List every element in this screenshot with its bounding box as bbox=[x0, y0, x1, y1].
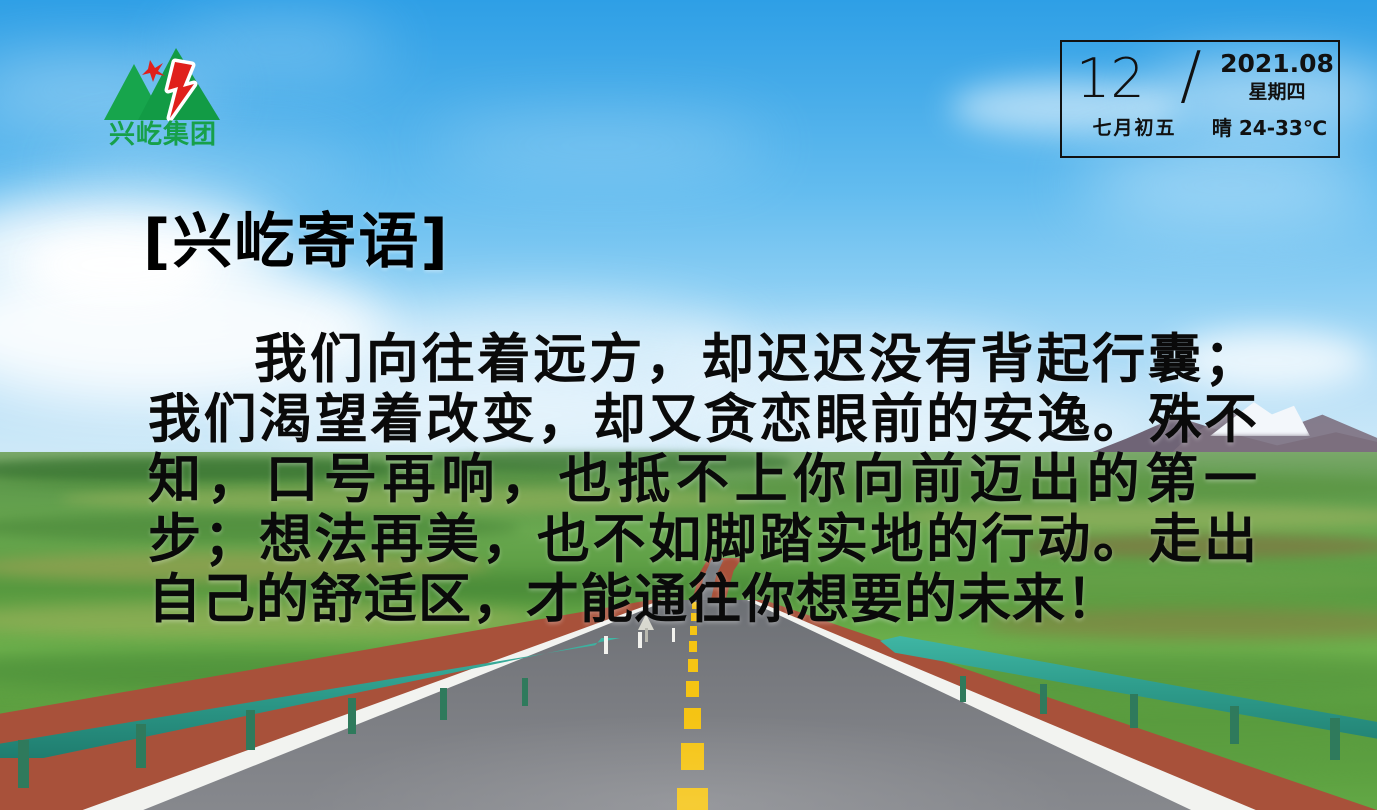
highway bbox=[0, 600, 1377, 810]
guardrail-post bbox=[18, 740, 29, 788]
date-lunar: 七月初五 bbox=[1072, 116, 1197, 140]
guardrail-post bbox=[960, 676, 966, 702]
center-line-dash bbox=[677, 788, 708, 810]
guardrail-post bbox=[1040, 684, 1047, 714]
cloud bbox=[430, 120, 770, 170]
center-line-dash bbox=[686, 681, 699, 697]
guardrail-post bbox=[1230, 706, 1239, 744]
guardrail-post bbox=[136, 724, 146, 768]
weather-info: 晴 24-33℃ bbox=[1202, 116, 1337, 140]
guardrail-post bbox=[1330, 718, 1340, 760]
date-separator: / bbox=[1180, 44, 1202, 108]
center-line-dash bbox=[684, 708, 701, 729]
roadside-marker-post bbox=[604, 636, 608, 654]
guardrail-post bbox=[246, 710, 255, 750]
page-title: [兴屹寄语] bbox=[143, 210, 450, 274]
logo-wordmark: 兴屹集团 bbox=[98, 120, 228, 150]
guardrail-post bbox=[522, 678, 528, 706]
center-line-dash bbox=[688, 659, 698, 672]
message-paragraph: 我们向往着远方，却迟迟没有背起行囊；我们渴望着改变，却又贪恋眼前的安逸。殊不知，… bbox=[148, 330, 1258, 630]
road-sign-post bbox=[645, 628, 648, 642]
center-line-dash bbox=[689, 641, 697, 652]
guardrail-post bbox=[348, 698, 356, 734]
date-year-month: 2021.08 bbox=[1217, 50, 1337, 78]
roadside-marker-post bbox=[672, 628, 675, 642]
xingyi-group-logo[interactable]: 兴屹集团 bbox=[98, 42, 228, 152]
date-day: 12 bbox=[1076, 52, 1145, 106]
date-weather-box: 12 / 2021.08 星期四 七月初五 晴 24-33℃ bbox=[1060, 40, 1340, 158]
center-line-dash bbox=[681, 743, 704, 770]
guardrail-post bbox=[440, 688, 447, 720]
cloud bbox=[1080, 150, 1377, 220]
cloud bbox=[60, 150, 360, 190]
date-weekday: 星期四 bbox=[1217, 80, 1337, 104]
poster-root: 兴屹集团 12 / 2021.08 星期四 七月初五 晴 24-33℃ [兴屹寄… bbox=[0, 0, 1377, 810]
guardrail-post bbox=[1130, 694, 1138, 728]
message-body: 我们向往着远方，却迟迟没有背起行囊；我们渴望着改变，却又贪恋眼前的安逸。殊不知，… bbox=[148, 330, 1258, 630]
roadside-marker-post bbox=[638, 632, 642, 648]
